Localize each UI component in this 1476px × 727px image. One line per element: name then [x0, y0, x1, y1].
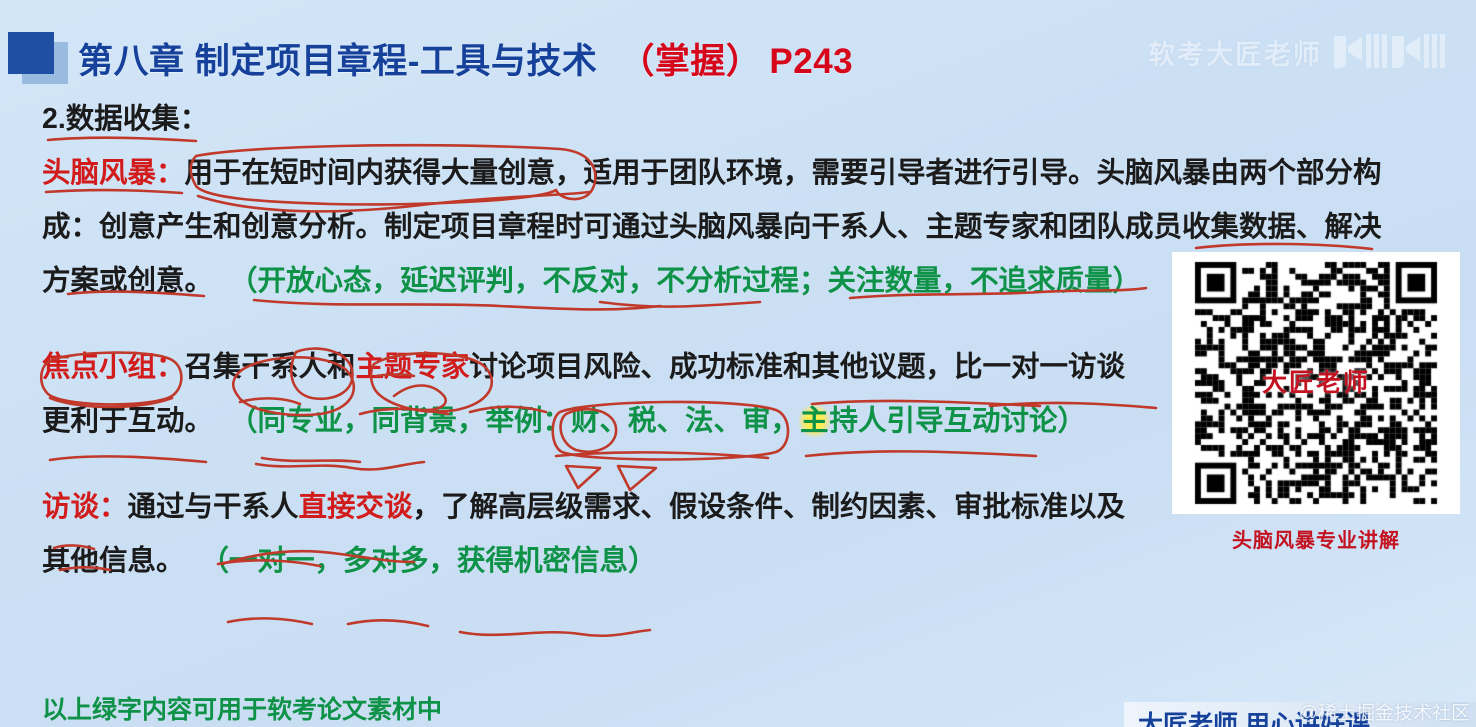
qr-code-image[interactable]: 大匠老师 [1172, 252, 1460, 514]
item-focusgroup-line-1-a: 召集干系人和 [185, 351, 356, 383]
item-brainstorm-line-3-green: （开放心态，延迟评判，不反对，不分析过程；关注数量，不追求质量） [229, 265, 1141, 297]
item-focusgroup-line-2-green-b: 持人引导互动讨论） [830, 405, 1087, 437]
item-focusgroup-line-2-black: 更利于互动。 [42, 405, 213, 437]
bilibili-logo-icon [1332, 30, 1450, 74]
item-interview-line-1-a: 通过与干系人 [128, 491, 299, 523]
item-brainstorm-line-1-rest: 用于在短时间内获得大量创意，适用于团队环境，需要引导者进行引导。头脑风暴由两个部… [185, 157, 1382, 189]
qr-caption: 头脑风暴专业讲解 [1172, 524, 1460, 553]
item-brainstorm-line-2: 成：创意产生和创意分析。制定项目章程时可通过头脑风暴向干系人、主题专家和团队成员… [42, 200, 1442, 254]
qr-overlay-text: 大匠老师 [1172, 363, 1460, 399]
brand-watermark-text: 软考大匠老师 [1148, 33, 1322, 72]
item-brainstorm-line-3-black: 方案或创意。 [42, 265, 213, 297]
item-interview-term: 访谈： [42, 491, 128, 523]
item-interview-direct-talk: 直接交谈 [299, 491, 413, 523]
item-focusgroup-sme: 主题专家 [356, 351, 470, 383]
item-focusgroup-line-1-b: 讨论项目风险、成功标准和其他议题，比一对一访谈 [470, 351, 1126, 383]
item-focusgroup-line-2-green-a: （同专业，同背景，举例：财、税、法、审， [229, 405, 799, 437]
item-interview-line-2-black: 其他信息。 [42, 545, 185, 577]
page-title-page-ref: P243 [769, 42, 853, 81]
footer-note: 以上绿字内容可用于软考论文素材中 [42, 690, 442, 726]
qr-panel: 大匠老师 头脑风暴专业讲解 [1172, 252, 1460, 553]
item-brainstorm-line-1: 头脑风暴：用于在短时间内获得大量创意，适用于团队环境，需要引导者进行引导。头脑风… [42, 146, 1442, 200]
slide-canvas: 第八章 制定项目章程-工具与技术（掌握）P243 软考大匠老师 [0, 0, 1476, 727]
item-brainstorm-term: 头脑风暴： [42, 157, 185, 189]
item-focusgroup-term: 焦点小组： [42, 351, 185, 383]
page-title-emphasis: （掌握） [619, 42, 761, 81]
item-interview-line-1-b: ，了解高层级需求、假设条件、制约因素、审批标准以及 [413, 491, 1126, 523]
section-heading: 2.数据收集： [42, 92, 1442, 146]
page-title-main: 第八章 制定项目章程-工具与技术 [78, 42, 597, 81]
page-title: 第八章 制定项目章程-工具与技术（掌握）P243 [78, 33, 853, 84]
brand-watermark: 软考大匠老师 [1148, 30, 1450, 74]
corner-watermark: @稀土掘金技术社区 [1299, 698, 1470, 725]
item-focusgroup-highlighted-char: 主 [799, 405, 830, 437]
item-interview-line-2-green: （一对一，多对多，获得机密信息） [201, 545, 657, 577]
header-decor-square-front [8, 32, 54, 74]
